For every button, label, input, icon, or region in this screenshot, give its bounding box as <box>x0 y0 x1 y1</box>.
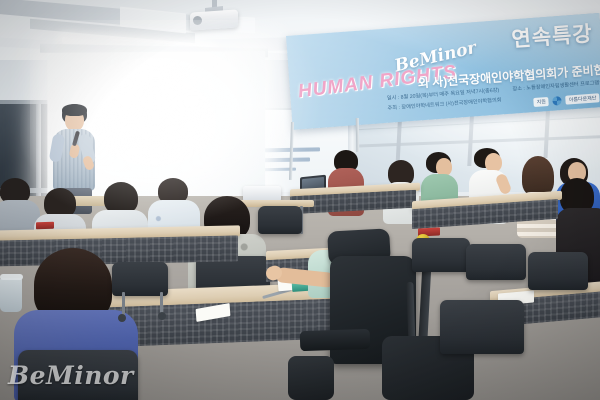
caster-wheel <box>118 314 126 322</box>
presenter-hair-top <box>62 104 87 116</box>
sponsor-logo-mark-icon <box>553 96 563 106</box>
sponsor-label-1: 지원 <box>533 97 549 107</box>
wheelchair-base <box>288 356 334 400</box>
chair <box>528 252 588 290</box>
caster-wheel <box>158 312 166 320</box>
hair <box>522 156 554 196</box>
chair <box>112 262 168 296</box>
wheelchair-armrest <box>300 329 371 351</box>
chair-leg <box>122 292 125 316</box>
chair <box>258 206 302 234</box>
banner-support-pole <box>356 118 360 152</box>
chair <box>412 238 470 272</box>
red-notebook <box>36 222 54 230</box>
photograph: 연속특강 BeMinor HUMAN RIGHTS 외 사)전국장애인야학협의회… <box>0 0 600 400</box>
chair-leg <box>160 292 163 314</box>
projector-lens <box>193 16 202 25</box>
chair <box>440 300 524 354</box>
banner-headline-korean: 연속특강 <box>510 18 593 54</box>
chair <box>466 244 526 280</box>
chair <box>18 350 138 400</box>
